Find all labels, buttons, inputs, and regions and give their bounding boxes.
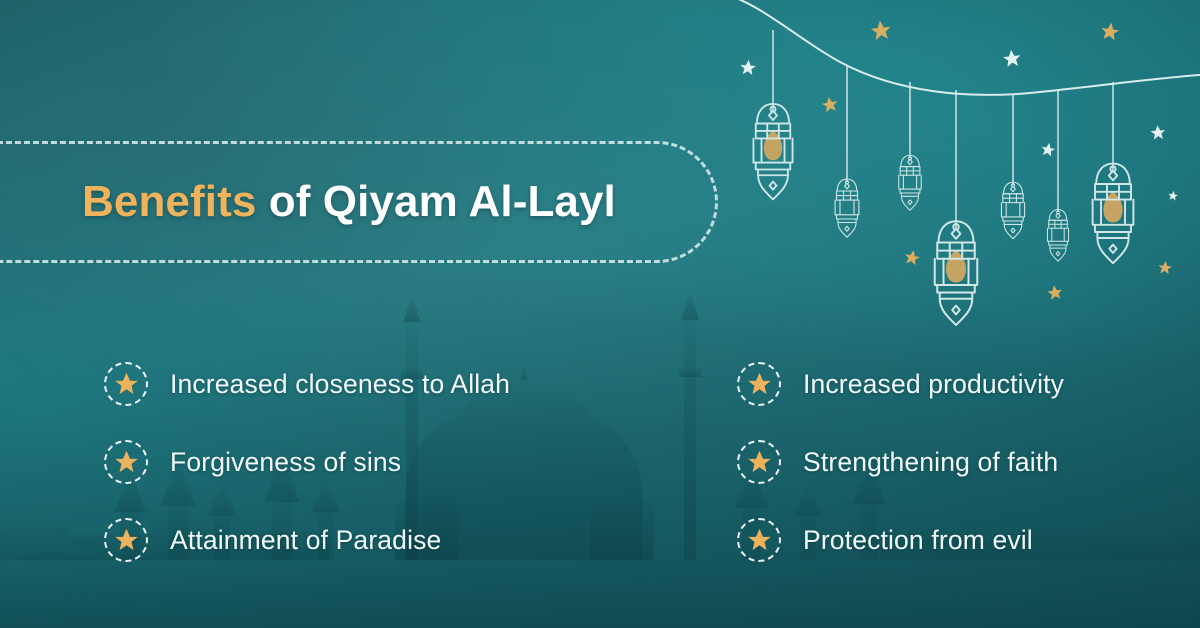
list-item: Strengthening of faith (664, 423, 1194, 501)
page-title: Benefits of Qiyam Al-Layl (82, 177, 616, 227)
list-item: Attainment of Paradise (104, 501, 664, 579)
benefits-list: Increased closeness to Allah Increased p… (0, 345, 1200, 579)
star-icon (104, 362, 148, 406)
star-icon (104, 440, 148, 484)
title-accent-word: Benefits (82, 177, 256, 226)
poster-canvas: Benefits of Qiyam Al-Layl Increased clos… (0, 0, 1200, 628)
benefit-label: Increased closeness to Allah (170, 369, 510, 400)
list-item: Increased closeness to Allah (104, 345, 664, 423)
title-plate: Benefits of Qiyam Al-Layl (0, 141, 718, 263)
hanging-lanterns-decoration (700, 0, 1200, 330)
benefit-label: Attainment of Paradise (170, 525, 441, 556)
star-icon (104, 518, 148, 562)
star-icon (737, 440, 781, 484)
list-item: Forgiveness of sins (104, 423, 664, 501)
benefit-label: Increased productivity (803, 369, 1064, 400)
benefit-label: Protection from evil (803, 525, 1033, 556)
benefit-label: Strengthening of faith (803, 447, 1058, 478)
list-item: Protection from evil (664, 501, 1194, 579)
star-icon (737, 362, 781, 406)
title-rest: of Qiyam Al-Layl (256, 177, 615, 226)
star-icon (737, 518, 781, 562)
list-item: Increased productivity (664, 345, 1194, 423)
benefit-label: Forgiveness of sins (170, 447, 401, 478)
